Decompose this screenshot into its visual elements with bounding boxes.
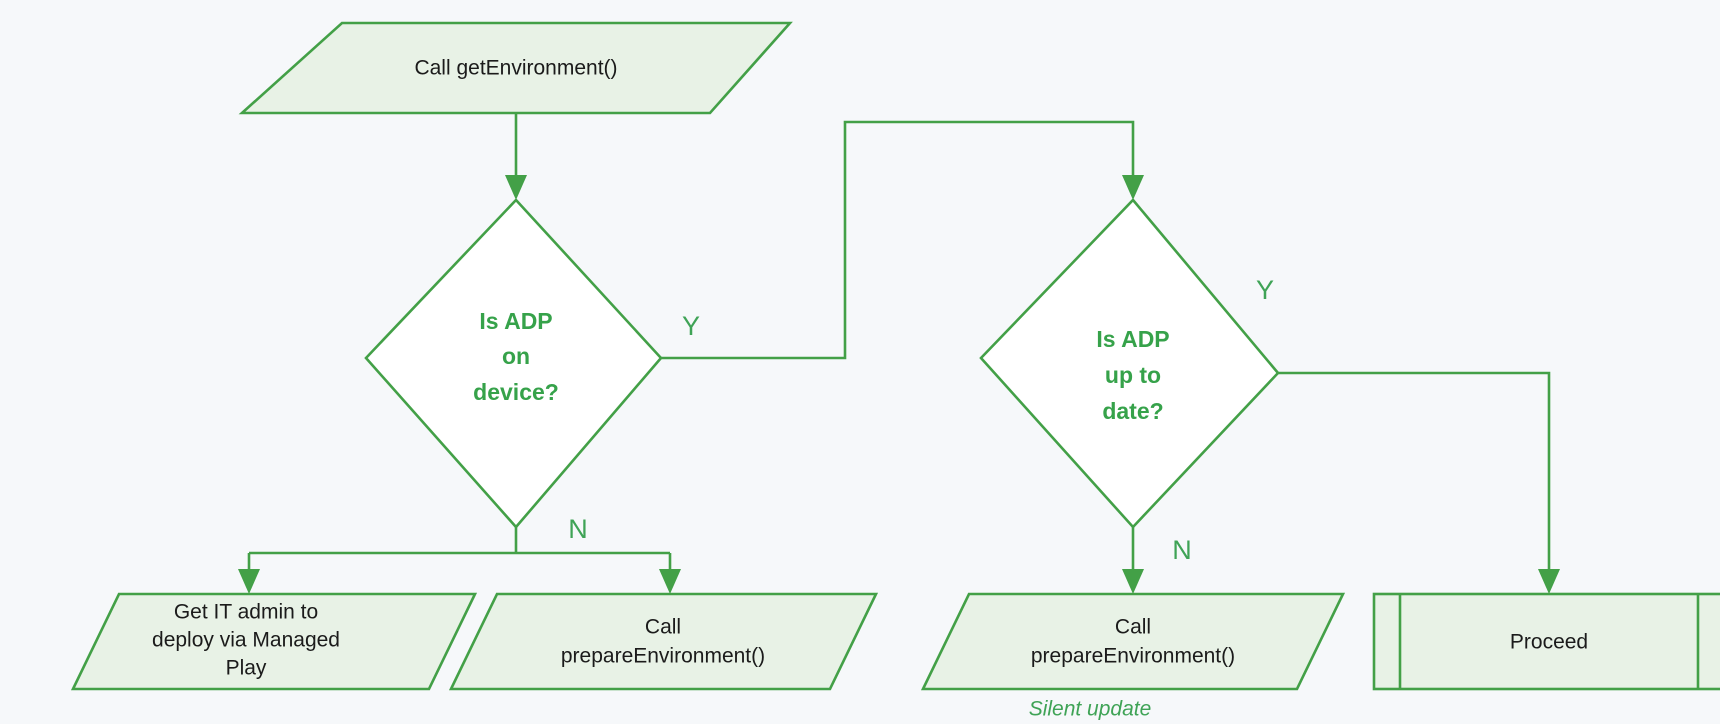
flowchart-canvas: Call getEnvironment() Is ADP on device? … (0, 0, 1720, 724)
edge-label-on-device-no: N (568, 514, 588, 544)
node-get-it-admin[interactable]: Get IT admin to deploy via Managed Play (73, 594, 475, 689)
arrowhead-icon (1538, 569, 1560, 594)
edge-label-up-to-date-no: N (1172, 535, 1192, 565)
edge-start-to-on-device (505, 113, 527, 200)
edge-label-up-to-date-yes: Y (1256, 275, 1274, 305)
node-call-prepare-environment-right[interactable]: Call prepareEnvironment() (923, 594, 1343, 689)
edge-on-device-no-split (238, 527, 681, 594)
decision-label-line-2: up to (1105, 362, 1161, 388)
edge-up-to-date-yes-to-proceed (1278, 373, 1560, 594)
caption-silent-update: Silent update (1029, 698, 1152, 721)
node-label: Proceed (1510, 631, 1588, 654)
decision-label-line-2: on (502, 343, 530, 369)
node-call-prepare-environment-left[interactable]: Call prepareEnvironment() (451, 594, 876, 689)
node-label: Call getEnvironment() (414, 57, 617, 80)
flowchart-svg: Call getEnvironment() Is ADP on device? … (0, 0, 1720, 724)
decision-label-line-1: Is ADP (479, 308, 552, 334)
node-label-line-1: Call (645, 616, 681, 639)
node-proceed[interactable]: Proceed (1374, 594, 1720, 689)
arrowhead-icon (505, 175, 527, 200)
edge-line (1278, 373, 1549, 582)
arrowhead-icon (238, 569, 260, 594)
node-label-line-2: prepareEnvironment() (561, 645, 765, 668)
node-label-line-2: prepareEnvironment() (1031, 645, 1235, 668)
parallelogram-shape (923, 594, 1343, 689)
node-label-line-1: Get IT admin to (174, 601, 318, 624)
node-label-line-2: deploy via Managed (152, 629, 340, 652)
arrowhead-icon (659, 569, 681, 594)
node-decision-is-adp-up-to-date[interactable]: Is ADP up to date? (981, 200, 1278, 527)
parallelogram-shape (451, 594, 876, 689)
decision-label-line-1: Is ADP (1096, 326, 1169, 352)
decision-label-line-3: date? (1102, 398, 1163, 424)
decision-label-line-3: device? (473, 379, 559, 405)
edge-up-to-date-no-to-prepare (1122, 527, 1144, 594)
node-call-get-environment[interactable]: Call getEnvironment() (242, 23, 790, 113)
arrowhead-icon (1122, 569, 1144, 594)
node-label-line-3: Play (226, 657, 267, 680)
edge-label-on-device-yes: Y (682, 311, 700, 341)
node-label-line-1: Call (1115, 616, 1151, 639)
arrowhead-icon (1122, 175, 1144, 200)
node-decision-is-adp-on-device[interactable]: Is ADP on device? (366, 200, 661, 527)
